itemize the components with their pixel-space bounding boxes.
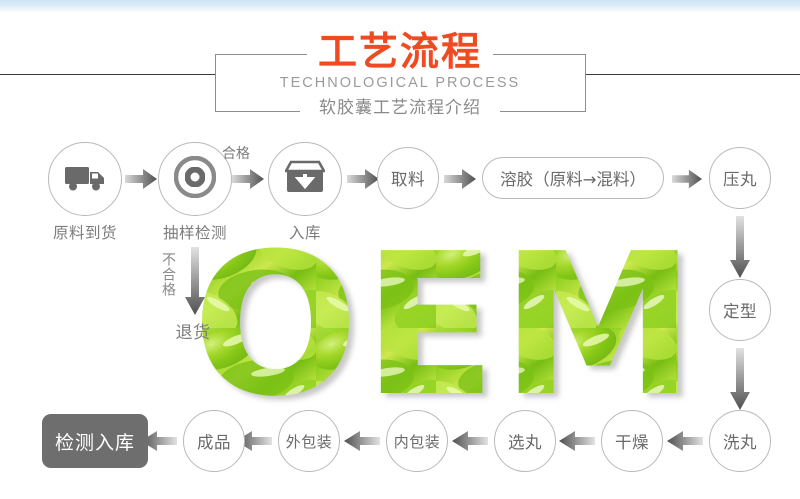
inspection-icon: [174, 156, 216, 202]
node-raw-material-arrival[interactable]: [48, 142, 122, 216]
arrow-sampling-to-warehouse: [232, 168, 264, 190]
node-drying[interactable]: 干燥: [601, 410, 663, 472]
node-warehouse-in[interactable]: [268, 142, 342, 216]
caption-warehouse-in: 入库: [255, 221, 355, 243]
node-final-inspection-warehouse[interactable]: 检测入库: [42, 414, 148, 468]
arrow-shaping-to-washing: [729, 348, 751, 410]
header: 工艺流程 TECHNOLOGICAL PROCESS 软胶囊工艺流程介绍: [0, 18, 800, 113]
caption-return-goods: 退货: [148, 318, 238, 343]
label-pass: 合格: [222, 143, 250, 163]
arrow-pickup-to-gel: [444, 168, 476, 190]
arrow-sorting-to-inner-packaging: [452, 430, 488, 452]
node-pickup[interactable]: 取料: [377, 147, 439, 209]
arrow-drying-to-sorting: [559, 430, 595, 452]
node-finished-product[interactable]: 成品: [183, 410, 245, 472]
node-pill-washing[interactable]: 洗丸: [709, 410, 771, 472]
node-sampling-inspection[interactable]: [158, 142, 232, 216]
inbox-arrow-down-icon: [285, 159, 325, 199]
caption-sampling-inspection: 抽样检测: [145, 221, 245, 243]
node-outer-packaging[interactable]: 外包装: [278, 410, 340, 472]
arrow-washing-to-drying: [667, 430, 703, 452]
page-subtitle-cn: 软胶囊工艺流程介绍: [0, 97, 800, 119]
oem-watermark: OEM: [196, 238, 696, 416]
svg-text:OEM: OEM: [196, 238, 696, 416]
arrow-fail-to-return: [184, 247, 206, 315]
node-inner-packaging[interactable]: 内包装: [386, 410, 448, 472]
flowchart-canvas: 工艺流程 TECHNOLOGICAL PROCESS 软胶囊工艺流程介绍: [0, 0, 800, 499]
page-title: 工艺流程: [0, 32, 800, 74]
node-pill-sorting[interactable]: 选丸: [494, 410, 556, 472]
node-pill-pressing[interactable]: 压丸: [709, 147, 771, 209]
arrow-pressing-to-shaping: [729, 216, 751, 278]
truck-icon: [64, 162, 106, 196]
top-blue-band: [0, 0, 800, 13]
caption-raw-material-arrival: 原料到货: [35, 221, 135, 243]
arrow-inner-to-outer-packaging: [344, 430, 380, 452]
label-fail: 不合格: [158, 252, 178, 297]
node-shaping[interactable]: 定型: [709, 279, 771, 341]
page-subtitle-en: TECHNOLOGICAL PROCESS: [0, 74, 800, 92]
arrow-warehouse-to-pickup: [347, 168, 379, 190]
arrow-gel-to-pressing: [672, 168, 702, 190]
node-gel-dissolving[interactable]: 溶胶（原料→混料）: [482, 157, 664, 199]
arrow-arrival-to-sampling: [125, 168, 157, 190]
